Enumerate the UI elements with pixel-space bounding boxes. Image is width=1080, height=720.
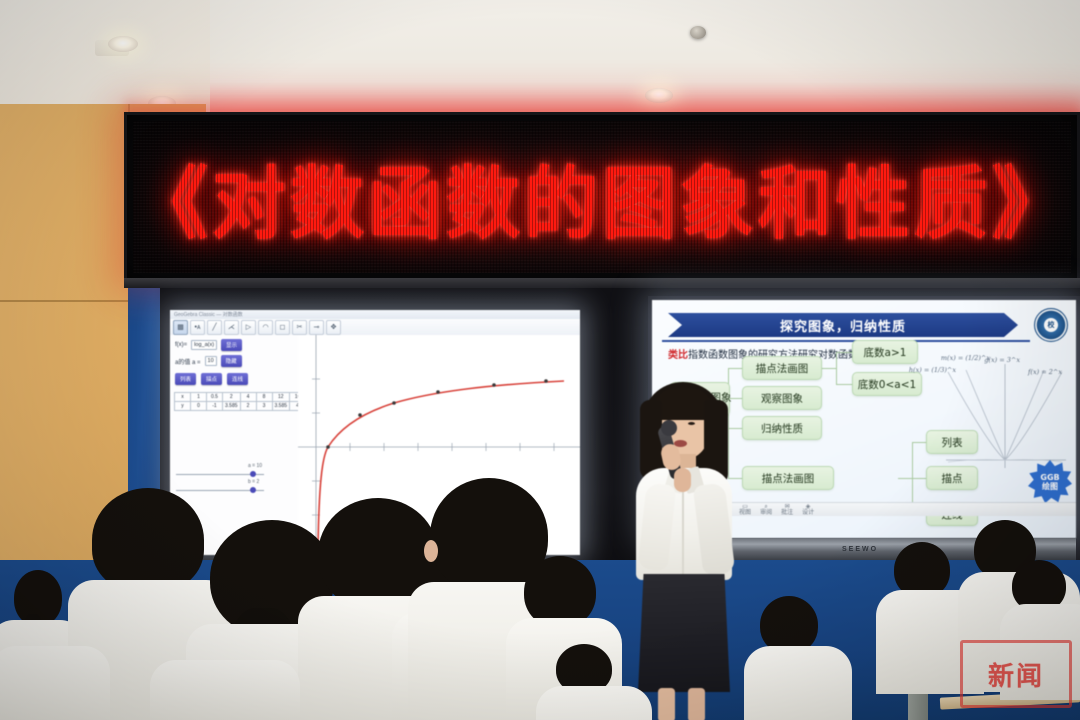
table-cell: -1 xyxy=(207,402,223,411)
flow-connector xyxy=(912,442,926,443)
watermark-text: 新闻 xyxy=(988,656,1044,693)
classroom-scene: 《对数函数的图象和性质》 GeoGebra Classic — 对数函数 ▩ •… xyxy=(0,0,1080,720)
table-cell: 3 xyxy=(256,402,272,411)
ggb-function-row[interactable]: f(x)= log_a(x) 显示 xyxy=(170,335,298,351)
ggb-badge-line2: 绘图 xyxy=(1042,482,1058,491)
ggb-value-table: x 1 0.5 2 4 8 12 16 y 0 -1 3.585 2 3 3.5… xyxy=(174,392,306,411)
slider-a-knob[interactable] xyxy=(250,471,256,477)
school-logo-icon: 校 xyxy=(1034,308,1068,342)
ggb-badge-line1: GGB xyxy=(1040,473,1059,482)
slider-a[interactable]: a = 10 xyxy=(176,467,288,483)
ggb-function-input[interactable]: log_a(x) xyxy=(191,340,217,350)
table-cell: 2 xyxy=(223,393,241,402)
flow-connector xyxy=(836,352,837,384)
teacher-hand-right xyxy=(674,468,691,492)
slide-title-underline xyxy=(662,340,1030,342)
ggb-show-button[interactable]: 显示 xyxy=(221,339,242,351)
ggb-param-label: a的值 a = xyxy=(175,357,201,366)
flow-node-label: 观察图象 xyxy=(761,391,803,406)
table-cell: 3.585 xyxy=(272,402,290,411)
ggb-connect-button[interactable]: 连线 xyxy=(227,373,248,385)
slide-title-text: 探究图象，归纳性质 xyxy=(780,316,906,335)
taskbar-design[interactable]: ◈设计 xyxy=(802,504,814,516)
downlight-icon xyxy=(108,36,138,52)
table-cell: 0 xyxy=(191,402,207,411)
microphone-head-icon xyxy=(661,420,677,436)
watermark-logo: 新闻 xyxy=(960,640,1072,708)
table-cell: 8 xyxy=(256,393,272,402)
ggb-hide-button[interactable]: 隐藏 xyxy=(221,355,242,367)
ggb-action-buttons[interactable]: 列表 描点 连线 xyxy=(170,367,298,385)
line-tool-icon[interactable]: ╱ xyxy=(207,320,222,335)
slide-title-banner: 探究图象，归纳性质 xyxy=(668,313,1018,337)
formula-f: f(x) = 2^x xyxy=(1028,368,1062,376)
led-banner-display: 《对数函数的图象和性质》 xyxy=(124,112,1080,282)
flow-connector xyxy=(822,368,836,369)
circle-tool-icon[interactable]: ◠ xyxy=(258,320,273,335)
formula-h: h(x) = (1/3)^x xyxy=(909,366,956,374)
teacher-leg-left xyxy=(658,688,675,720)
select-tool-icon[interactable]: ▩ xyxy=(173,320,188,335)
ggb-title-text: GeoGebra Classic — 对数函数 xyxy=(174,311,243,318)
flow-connector xyxy=(836,352,852,353)
table-row: x 1 0.5 2 4 8 12 16 xyxy=(175,393,306,402)
flow-connector xyxy=(728,368,742,369)
table-cell: 1 xyxy=(191,393,207,402)
flow-node-label: 描点法画图 xyxy=(762,471,815,486)
transform-tool-icon[interactable]: ✂ xyxy=(292,320,307,335)
led-banner-text: 《对数函数的图象和性质》 xyxy=(134,140,1070,253)
table-cell: 3.585 xyxy=(223,402,241,411)
slide-subtitle-highlight: 类比 xyxy=(668,350,688,361)
flow-node-label: 描点法画图 xyxy=(756,361,809,376)
whiteboard-brand-label: SEEWO xyxy=(842,546,878,553)
teacher-skirt xyxy=(638,574,730,692)
point-tool-icon[interactable]: •ᴀ xyxy=(190,320,205,335)
teacher xyxy=(612,382,762,720)
table-header-y: y xyxy=(175,402,191,411)
slider-a-label: a = 10 xyxy=(248,463,262,469)
ggb-param-row[interactable]: a的值 a = 10 隐藏 xyxy=(170,351,298,367)
flow-node-plot-method-1: 描点法画图 xyxy=(742,356,822,380)
table-cell: 4 xyxy=(240,393,256,402)
smoke-detector-icon xyxy=(690,26,706,39)
flow-connector xyxy=(898,478,912,479)
move-graphics-tool-icon[interactable]: ✥ xyxy=(326,320,341,335)
flow-connector xyxy=(912,478,926,479)
slider-tool-icon[interactable]: ⊸ xyxy=(309,320,324,335)
ggb-slider-group[interactable]: a = 10 b = 2 xyxy=(176,467,288,499)
slider-b-label: b = 2 xyxy=(248,479,259,485)
teacher-leg-right xyxy=(688,688,705,720)
table-row: y 0 -1 3.585 2 3 3.585 4 xyxy=(175,402,306,411)
flow-node-label: 底数a>1 xyxy=(864,345,907,360)
table-cell: 2 xyxy=(240,402,256,411)
flow-node-label: 底数0<a<1 xyxy=(858,377,916,392)
ggb-toolbar[interactable]: ▩ •ᴀ ╱ ⋌ ▷ ◠ ◻ ✂ ⊸ ✥ xyxy=(170,319,580,336)
flow-connector xyxy=(836,384,852,385)
led-bottom-trim xyxy=(124,278,1080,288)
taskbar-comment[interactable]: ✉批注 xyxy=(781,504,793,516)
flow-node-base-gt1: 底数a>1 xyxy=(852,340,918,364)
ggb-function-label: f(x)= xyxy=(175,342,187,348)
special-line-tool-icon[interactable]: ⋌ xyxy=(224,320,239,335)
slider-b[interactable]: b = 2 xyxy=(176,483,288,499)
ggb-param-input[interactable]: 10 xyxy=(205,356,217,366)
table-cell: 12 xyxy=(272,393,290,402)
flow-node-label: 归纳性质 xyxy=(761,421,803,436)
teacher-eye-right xyxy=(688,422,695,425)
table-header-x: x xyxy=(175,393,191,402)
slider-b-knob[interactable] xyxy=(250,487,256,493)
table-cell: 0.5 xyxy=(207,393,223,402)
angle-tool-icon[interactable]: ◻ xyxy=(275,320,290,335)
school-logo-text: 校 xyxy=(1048,320,1055,330)
ggb-plot-button[interactable]: 描点 xyxy=(201,373,222,385)
polygon-tool-icon[interactable]: ▷ xyxy=(241,320,256,335)
formula-m: m(x) = (1/2)^x xyxy=(941,354,990,362)
flow-node-base-lt1: 底数0<a<1 xyxy=(852,372,922,396)
teacher-blouse-placket xyxy=(682,488,684,576)
ggb-list-button[interactable]: 列表 xyxy=(175,373,196,385)
